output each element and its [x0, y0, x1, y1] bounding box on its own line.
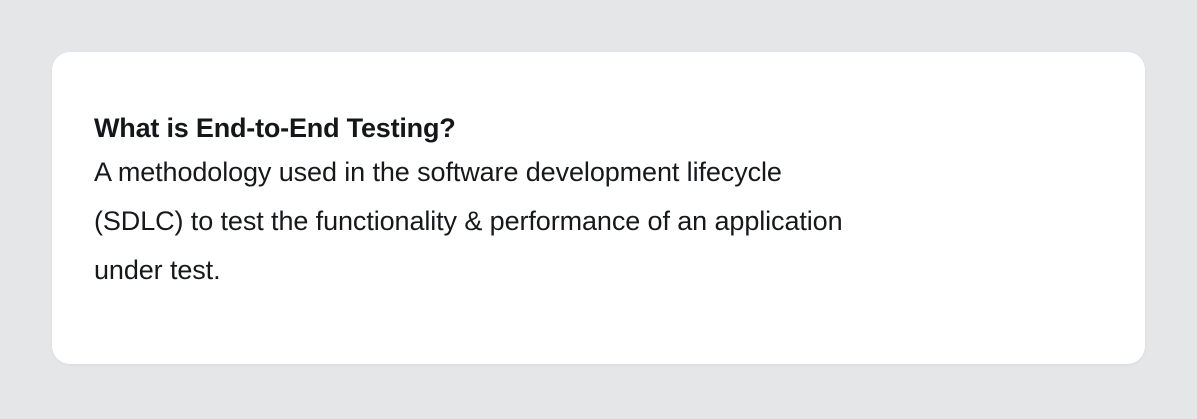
card-body-text: A methodology used in the software devel…: [94, 148, 1097, 295]
page-root: What is End-to-End Testing? A methodolog…: [0, 0, 1197, 419]
card-body-line: A methodology used in the software devel…: [94, 148, 1097, 197]
definition-card: What is End-to-End Testing? A methodolog…: [52, 52, 1145, 364]
card-body-line: (SDLC) to test the functionality & perfo…: [94, 197, 1097, 246]
card-body-line: under test.: [94, 246, 1097, 295]
card-heading: What is End-to-End Testing?: [94, 108, 1097, 148]
